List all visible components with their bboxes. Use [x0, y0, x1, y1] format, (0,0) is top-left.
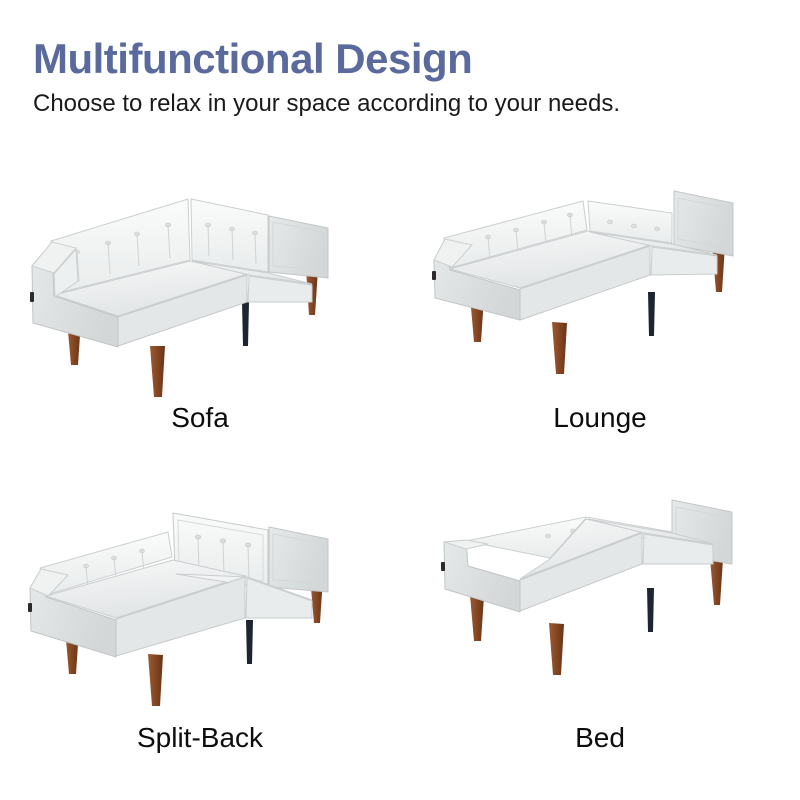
armrest-right — [269, 527, 328, 592]
mode-label-bed: Bed — [575, 722, 625, 754]
side-release-tab — [432, 271, 436, 280]
product-infographic-page: Multifunctional Design Choose to relax i… — [0, 0, 800, 800]
mode-label-sofa: Sofa — [171, 402, 229, 434]
side-release-tab — [30, 292, 34, 302]
mode-cell-split-back: Split-Back — [0, 470, 400, 790]
mode-cell-sofa: Sofa — [0, 150, 400, 470]
sofa-upright-illustration — [10, 150, 390, 400]
page-subtitle: Choose to relax in your space according … — [33, 90, 767, 118]
page-title: Multifunctional Design — [33, 36, 767, 82]
mode-label-lounge: Lounge — [553, 402, 646, 434]
mode-cell-bed: Bed — [400, 470, 800, 790]
sofa-split-back-illustration — [10, 470, 390, 720]
backrest-right-panel — [191, 199, 268, 272]
side-release-tab — [441, 562, 445, 571]
modes-grid: Sofa — [0, 150, 800, 780]
mode-label-split-back: Split-Back — [137, 722, 263, 754]
armrest-right — [269, 216, 328, 278]
sofa-lounge-illustration — [410, 150, 790, 400]
side-release-tab — [28, 603, 32, 612]
sofa-bed-illustration — [410, 470, 790, 720]
mode-cell-lounge: Lounge — [400, 150, 800, 470]
header-block: Multifunctional Design Choose to relax i… — [33, 36, 767, 118]
